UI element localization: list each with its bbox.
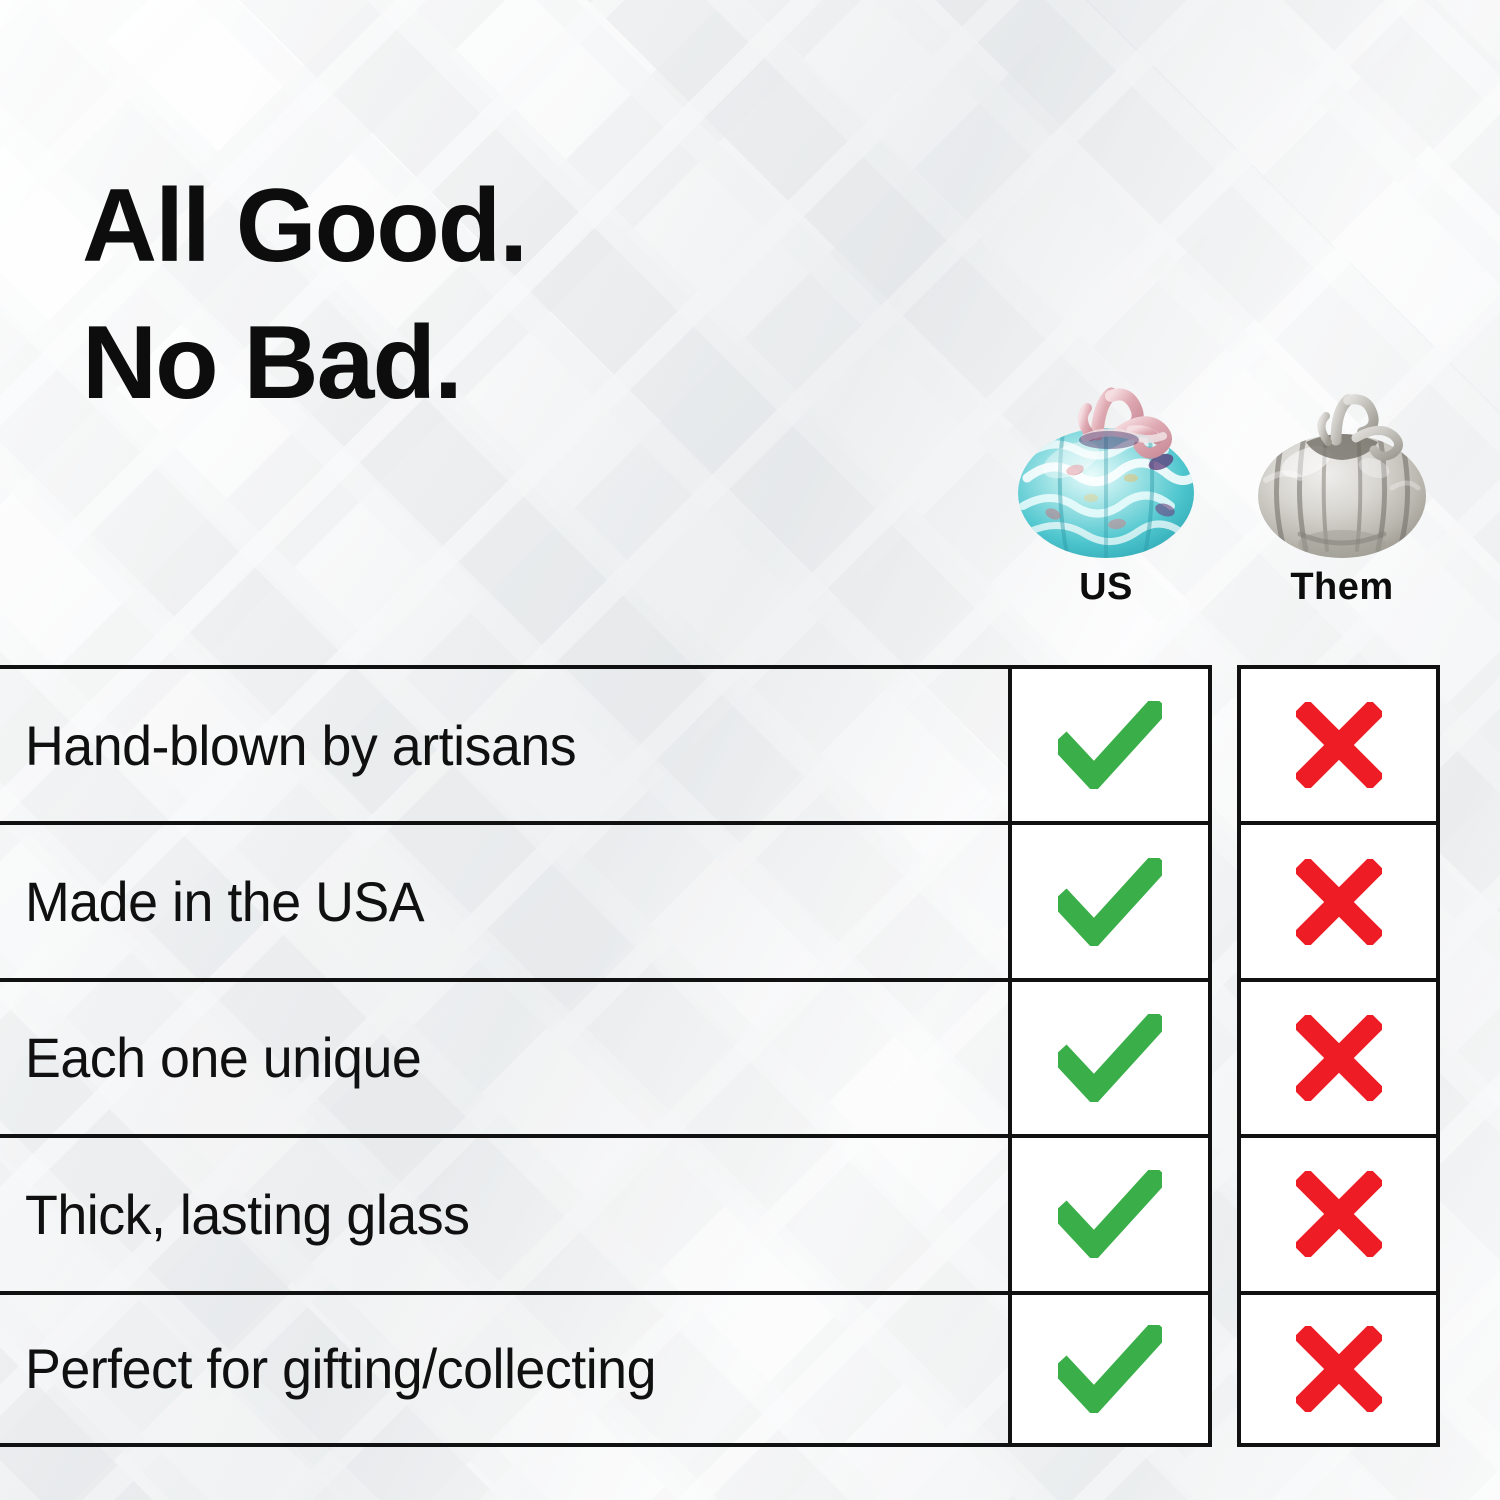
feature-cell: Each one unique bbox=[0, 978, 1008, 1134]
feature-label: Made in the USA bbox=[0, 869, 424, 934]
check-icon bbox=[1058, 701, 1162, 789]
cross-icon bbox=[1296, 1015, 1382, 1101]
cross-icon bbox=[1296, 859, 1382, 945]
comparison-infographic: All Good. No Bad. bbox=[0, 0, 1500, 1500]
check-icon bbox=[1058, 1014, 1162, 1102]
table-row: Each one unique bbox=[0, 978, 1440, 1134]
them-mark-cell bbox=[1237, 665, 1440, 821]
table-row: Perfect for gifting/collecting bbox=[0, 1291, 1440, 1447]
us-mark-cell bbox=[1008, 978, 1212, 1134]
cross-icon bbox=[1296, 702, 1382, 788]
feature-cell: Perfect for gifting/collecting bbox=[0, 1291, 1008, 1447]
us-column-label: US bbox=[1006, 568, 1206, 606]
them-product-image bbox=[1242, 366, 1442, 562]
us-mark-cell bbox=[1008, 821, 1212, 977]
them-mark-cell bbox=[1237, 978, 1440, 1134]
us-product-image bbox=[1006, 366, 1206, 562]
them-mark-cell bbox=[1237, 1134, 1440, 1290]
us-mark-cell bbox=[1008, 665, 1212, 821]
check-icon bbox=[1058, 858, 1162, 946]
feature-cell: Hand-blown by artisans bbox=[0, 665, 1008, 821]
feature-label: Thick, lasting glass bbox=[0, 1182, 470, 1247]
table-row: Hand-blown by artisans bbox=[0, 665, 1440, 821]
cross-icon bbox=[1296, 1171, 1382, 1257]
headline-line-1: All Good. bbox=[82, 158, 526, 295]
comparison-table: Hand-blown by artisans Made in the USA bbox=[0, 665, 1440, 1447]
us-mark-cell bbox=[1008, 1134, 1212, 1290]
headline: All Good. No Bad. bbox=[82, 158, 526, 433]
us-mark-cell bbox=[1008, 1291, 1212, 1447]
feature-label: Perfect for gifting/collecting bbox=[0, 1336, 656, 1401]
them-mark-cell bbox=[1237, 821, 1440, 977]
column-header-them: Them bbox=[1242, 366, 1442, 606]
them-column-label: Them bbox=[1242, 568, 1442, 606]
table-row: Made in the USA bbox=[0, 821, 1440, 977]
grey-glass-pumpkin-icon bbox=[1252, 384, 1432, 562]
headline-line-2: No Bad. bbox=[82, 295, 526, 432]
feature-label: Hand-blown by artisans bbox=[0, 713, 576, 778]
table-row: Thick, lasting glass bbox=[0, 1134, 1440, 1290]
them-mark-cell bbox=[1237, 1291, 1440, 1447]
column-header-us: US bbox=[1006, 366, 1206, 606]
feature-cell: Thick, lasting glass bbox=[0, 1134, 1008, 1290]
cross-icon bbox=[1296, 1326, 1382, 1412]
check-icon bbox=[1058, 1170, 1162, 1258]
teal-glass-pumpkin-icon bbox=[1013, 374, 1199, 562]
check-icon bbox=[1058, 1325, 1162, 1413]
column-headers: US bbox=[1000, 366, 1450, 646]
feature-cell: Made in the USA bbox=[0, 821, 1008, 977]
feature-label: Each one unique bbox=[0, 1025, 421, 1090]
